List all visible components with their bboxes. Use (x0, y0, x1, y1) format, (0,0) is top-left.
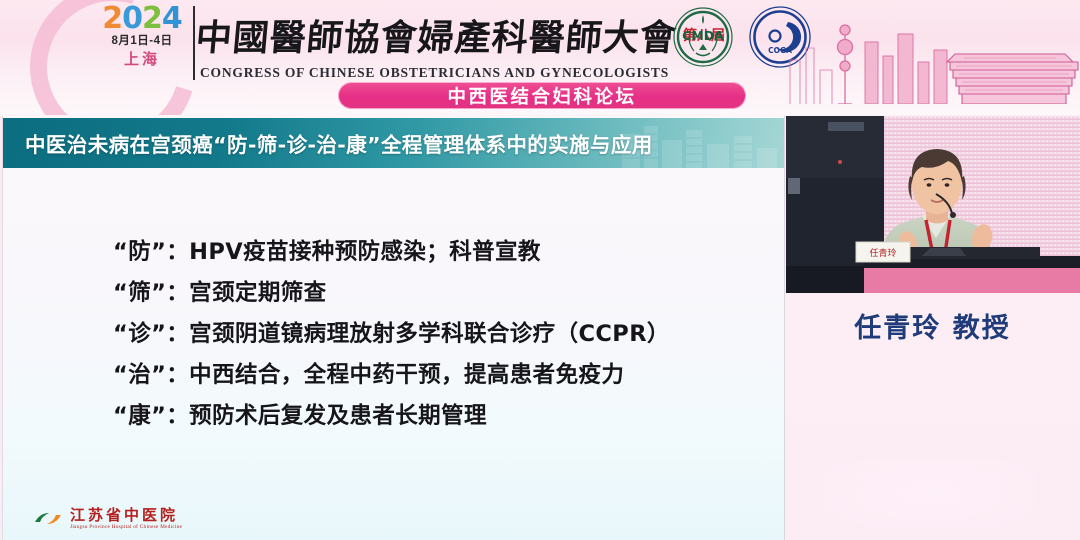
panel-light-wash (825, 460, 1035, 530)
slide-content-area: 中医治未病在宫颈癌“防-筛-诊-治-康”全程管理体系中的实施与应用 “防”：HP… (2, 116, 785, 540)
speaker-video-frame: 任青玲 (786, 116, 1080, 293)
presentation-screen: 2024 8月1日-4日 上海 中國醫師協會婦產科醫師大會 第八屆 CONGRE… (0, 0, 1080, 540)
hospital-name-en: Jiangsu Province Hospital of Chinese Med… (70, 525, 182, 530)
speaker-panel: 任青玲 任青玲 教授 (785, 116, 1080, 540)
podium-nameplate-text: 任青玲 (869, 247, 896, 259)
hospital-logo-text: 江苏省中医院 Jiangsu Province Hospital of Chin… (70, 508, 182, 530)
forum-title-pill: 中西医结合妇科论坛 (338, 82, 746, 109)
bullet-item-fang: “防”：HPV疫苗接种预防感染；科普宣教 (113, 232, 753, 273)
hospital-name-cn: 江苏省中医院 (70, 508, 182, 523)
speaker-name-label: 任青玲 教授 (785, 306, 1080, 345)
speaker-video-feed[interactable]: 任青玲 (786, 116, 1080, 293)
forum-title-label: 中西医结合妇科论坛 (447, 83, 636, 109)
conference-header-banner: 2024 8月1日-4日 上海 中國醫師協會婦產科醫師大會 第八屆 CONGRE… (0, 0, 1080, 115)
shanghai-skyline-decoration (750, 0, 1080, 104)
bullet-item-shai: “筛”：宫颈定期筛查 (113, 273, 753, 314)
congress-title-cn-text: 中國醫師協會婦產科醫師大會 (194, 9, 680, 61)
congress-title-en: CONGRESS OF CHINESE OBSTETRICIANS AND GY… (200, 65, 669, 81)
bullet-item-kang: “康”：预防术后复发及患者长期管理 (113, 396, 753, 437)
congress-title-cn: 中國醫師協會婦產科醫師大會 第八屆 (193, 2, 669, 68)
slide-title-text: 中医治未病在宫颈癌“防-筛-诊-治-康”全程管理体系中的实施与应用 (25, 118, 653, 168)
cmda-logo-icon: CMDA (672, 6, 734, 68)
conference-dates: 8月1日-4日 (88, 36, 196, 48)
hospital-swoosh-icon (33, 510, 63, 527)
slide-bullet-list: “防”：HPV疫苗接种预防感染；科普宣教 “筛”：宫颈定期筛查 “诊”：宫颈阴道… (113, 232, 753, 437)
bullet-item-zhen: “诊”：宫颈阴道镜病理放射多学科联合诊疗（CCPR） (113, 314, 753, 355)
slide-title-bar: 中医治未病在宫颈癌“防-筛-诊-治-康”全程管理体系中的实施与应用 (3, 118, 784, 168)
svg-text:CMDA: CMDA (682, 28, 724, 43)
conference-city: 上海 (88, 52, 196, 67)
hospital-logo: 江苏省中医院 Jiangsu Province Hospital of Chin… (33, 508, 182, 530)
year-digits: 2024 (88, 4, 196, 34)
bullet-item-zhi: “治”：中西结合，全程中药干预，提高患者免疫力 (113, 355, 753, 396)
conference-year-logo: 2024 8月1日-4日 上海 (88, 4, 196, 67)
